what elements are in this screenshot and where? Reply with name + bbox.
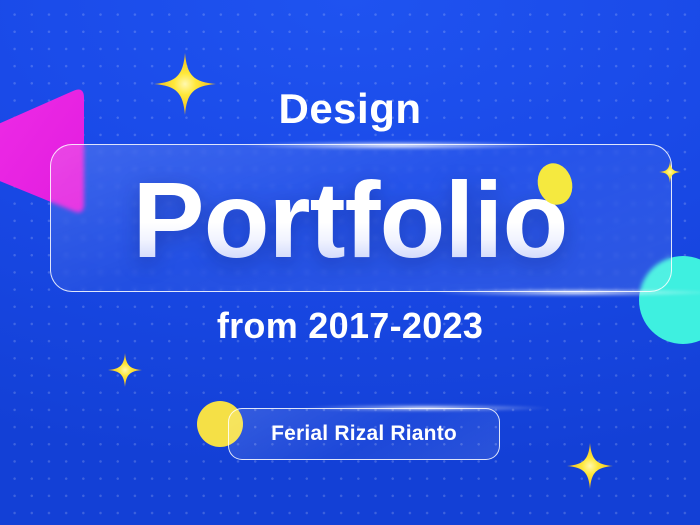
sparkle-top-left (154, 53, 216, 115)
author-name-badge[interactable]: Ferial Rizal Rianto (228, 408, 500, 460)
portfolio-poster: Design Portfolio from 2017-2023 Ferial R… (0, 0, 700, 525)
title-portfolio: Portfolio (0, 166, 700, 274)
subtitle-year-range: from 2017-2023 (0, 308, 700, 344)
sparkle-icon (567, 443, 613, 489)
sparkle-icon (659, 161, 681, 183)
sparkle-mid-left (108, 353, 142, 387)
sparkle-icon (108, 353, 142, 387)
badge-light-streak (300, 404, 550, 412)
card-bottom-light-streak (430, 288, 700, 297)
sparkle-icon (154, 53, 216, 115)
sparkle-card-right (659, 161, 681, 183)
card-top-light-streak (240, 141, 550, 150)
title-design: Design (0, 88, 700, 130)
author-name-label: Ferial Rizal Rianto (271, 422, 457, 446)
sparkle-bottom-right (567, 443, 613, 489)
